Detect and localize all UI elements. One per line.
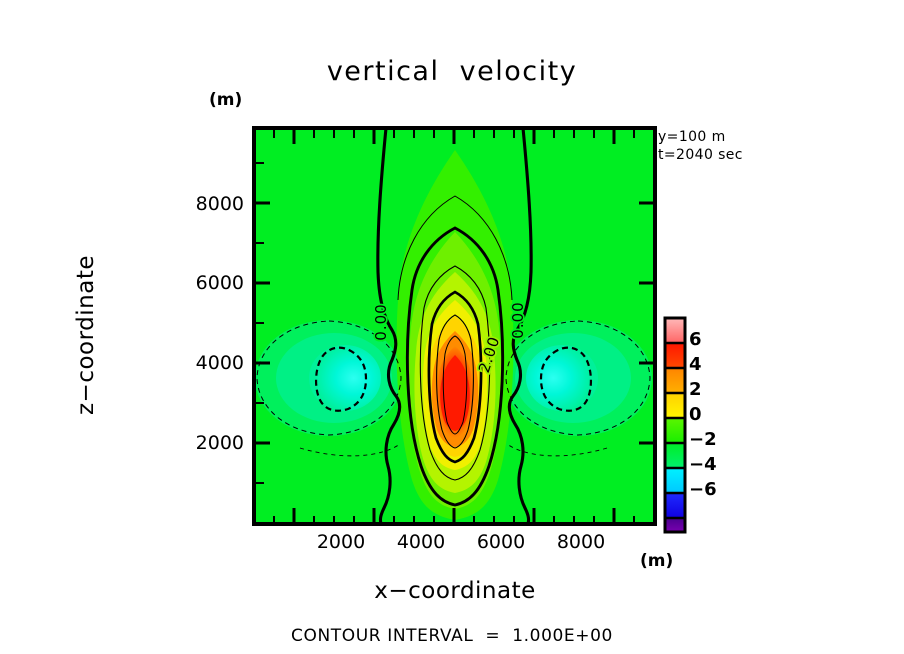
contour-minus-1-right	[506, 321, 650, 435]
field-band-positive-peak	[440, 355, 470, 431]
contour-label: 0.00	[509, 301, 527, 338]
contour-line-layer	[257, 128, 650, 524]
y-tick-label: 8000	[164, 193, 244, 215]
field-band-positive-5	[432, 331, 478, 447]
field-band-negative-outer-left	[255, 320, 403, 436]
y-axis-right-ticks	[639, 203, 655, 443]
x-tick-label: 2000	[296, 531, 386, 553]
contour-minus-1-left	[257, 321, 401, 435]
colorbar-tick-label: 4	[689, 354, 702, 375]
contour-figure: vertical velocity (m) (m) z−coordinate x…	[0, 0, 904, 654]
y-axis-units-label: (m)	[209, 90, 242, 110]
contour-plus-0-upper	[398, 196, 512, 300]
field-band-positive-core	[436, 346, 474, 438]
x-axis-units-label: (m)	[640, 551, 673, 571]
contour-plot-canvas: 0.00 0.00 2.00	[0, 0, 904, 654]
y-axis-title: z−coordinate	[73, 205, 99, 465]
contour-minus-trace-right	[507, 444, 607, 456]
field-band-positive-4	[428, 316, 482, 457]
contour-label: 0.00	[372, 303, 390, 340]
field-band-negative-inner-left	[309, 345, 381, 411]
colorbar-tick-label: −2	[689, 429, 717, 450]
colorbar-tick-label: 6	[689, 329, 702, 350]
colorbar-band	[665, 418, 685, 443]
field-band-negative-mid-right	[515, 333, 631, 423]
colorbar-band	[665, 318, 685, 343]
annotation-y-slice: y=100 m	[658, 129, 726, 145]
field-band-negative-inner-right	[526, 345, 598, 411]
field-band-positive-3	[423, 300, 487, 470]
plot-frame	[254, 128, 655, 524]
contour-plus-3	[429, 292, 481, 462]
colorbar-tick-label: 0	[689, 404, 702, 425]
y-tick-label: 4000	[164, 352, 244, 374]
field-band-positive-2	[414, 272, 495, 493]
contour-plus-4	[437, 315, 474, 448]
annotation-time: t=2040 sec	[658, 147, 743, 163]
colorbar-band	[665, 443, 685, 468]
zero-contour-left	[378, 128, 400, 524]
x-tick-label: 6000	[456, 531, 546, 553]
contour-minus-2-right	[541, 348, 591, 411]
field-band-negative-outer-right	[504, 320, 652, 436]
colorbar	[665, 318, 685, 532]
colorbar-tick-label: −4	[689, 454, 717, 475]
y-tick-label: 2000	[164, 432, 244, 454]
field-band-positive-1	[408, 232, 501, 509]
colorbar-frame	[665, 318, 685, 532]
colorbar-tick-label: 2	[689, 379, 702, 400]
contour-plus-5	[443, 336, 466, 434]
contour-label: 2.00	[475, 334, 504, 375]
field-band-positive-0	[397, 150, 514, 520]
field-band-negative-mid-left	[276, 333, 392, 423]
plot-axes	[254, 128, 655, 524]
colorbar-tick-label: −6	[689, 479, 717, 500]
x-tick-label: 4000	[376, 531, 466, 553]
colorbar-band	[665, 518, 685, 532]
x-tick-label: 8000	[536, 531, 626, 553]
contour-plus-2	[420, 266, 489, 480]
colorbar-band	[665, 343, 685, 368]
page-title: vertical velocity	[0, 56, 904, 87]
contour-minus-trace-left	[300, 444, 400, 456]
colorbar-band	[665, 393, 685, 418]
colorbar-band	[665, 368, 685, 393]
y-axis-ticks	[254, 163, 270, 483]
x-axis-ticks	[274, 508, 634, 524]
x-axis-top-ticks	[274, 128, 634, 144]
y-tick-label: 6000	[164, 272, 244, 294]
contour-fill-layer	[254, 128, 655, 524]
x-axis-title: x−coordinate	[254, 578, 656, 604]
zero-contour-right	[509, 128, 531, 524]
colorbar-band	[665, 493, 685, 518]
field-background	[254, 128, 655, 524]
contour-interval-caption: CONTOUR INTERVAL = 1.000E+00	[0, 626, 904, 646]
contour-label-layer: 0.00 0.00 2.00	[372, 301, 527, 375]
contour-plus-1	[407, 228, 502, 505]
contour-minus-2-left	[316, 348, 366, 411]
colorbar-separators	[665, 343, 685, 518]
colorbar-band	[665, 468, 685, 493]
